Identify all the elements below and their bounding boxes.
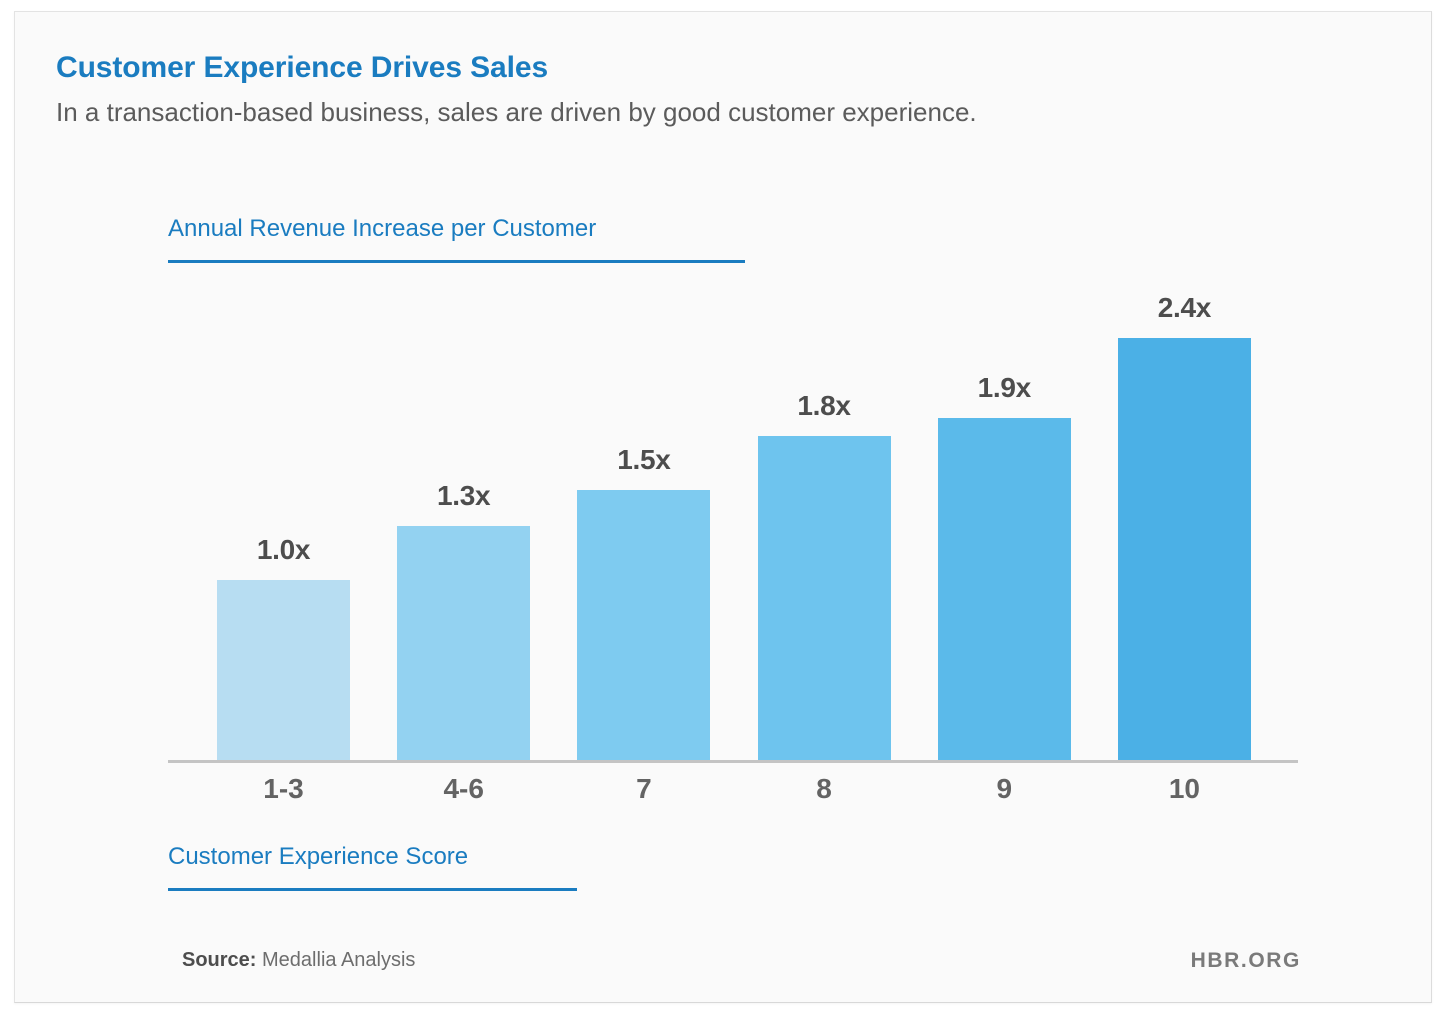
page-title: Customer Experience Drives Sales — [56, 51, 548, 85]
bar-value-label: 1.3x — [437, 480, 490, 512]
source-value: Medallia Analysis — [256, 949, 415, 971]
x-tick-label: 8 — [758, 773, 891, 805]
bar-group: 1.5x — [577, 292, 710, 760]
source-label: Source: — [182, 949, 256, 971]
bar-group: 2.4x — [1118, 292, 1251, 760]
chart-plot-area: 1.0x 1.3x 1.5x 1.8x 1.9x 2.4x — [168, 292, 1298, 763]
bar-rect[interactable] — [1118, 338, 1251, 760]
source-note: Source: Medallia Analysis — [182, 949, 415, 972]
x-tick-label: 4-6 — [397, 773, 530, 805]
bar-rect[interactable] — [217, 580, 350, 760]
bar-value-label: 1.0x — [257, 534, 310, 566]
bar-series: 1.0x 1.3x 1.5x 1.8x 1.9x 2.4x — [217, 292, 1251, 760]
x-axis-caption: Customer Experience Score — [168, 843, 577, 891]
bar-group: 1.0x — [217, 292, 350, 760]
bar-value-label: 1.8x — [797, 390, 850, 422]
brand-label: HBR.ORG — [1191, 949, 1301, 973]
x-axis-line — [168, 760, 1298, 763]
x-tick-label: 10 — [1118, 773, 1251, 805]
y-axis-caption: Annual Revenue Increase per Customer — [168, 215, 745, 263]
bar-value-label: 1.9x — [978, 372, 1031, 404]
x-tick-label: 9 — [938, 773, 1071, 805]
bar-value-label: 2.4x — [1158, 292, 1211, 324]
bar-value-label: 1.5x — [617, 444, 670, 476]
x-tick-label: 7 — [577, 773, 710, 805]
bar-group: 1.3x — [397, 292, 530, 760]
bar-rect[interactable] — [577, 490, 710, 760]
x-axis-caption-label: Customer Experience Score — [168, 843, 577, 871]
x-axis-caption-rule — [168, 888, 577, 891]
chart-card: Customer Experience Drives Sales In a tr… — [14, 11, 1432, 1003]
x-tick-label: 1-3 — [217, 773, 350, 805]
y-axis-caption-label: Annual Revenue Increase per Customer — [168, 215, 745, 243]
bar-group: 1.9x — [938, 292, 1071, 760]
page-subtitle: In a transaction-based business, sales a… — [56, 97, 977, 128]
bar-rect[interactable] — [938, 418, 1071, 760]
bar-group: 1.8x — [758, 292, 891, 760]
y-axis-caption-rule — [168, 260, 745, 263]
x-axis-tick-labels: 1-3 4-6 7 8 9 10 — [217, 773, 1251, 805]
bar-rect[interactable] — [397, 526, 530, 760]
bar-rect[interactable] — [758, 436, 891, 760]
